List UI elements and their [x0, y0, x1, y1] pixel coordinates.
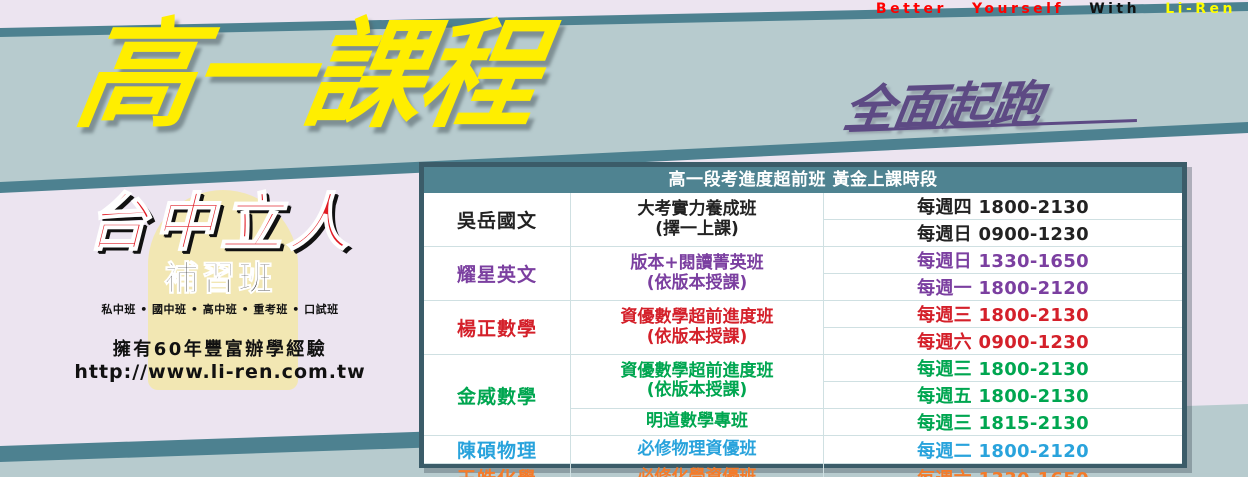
table-row: 王皓化學必修化學資優班每週六 1330-1650 [424, 463, 1182, 477]
table-row: 陳碩物理必修物理資優班每週二 1800-2120 [424, 435, 1182, 463]
time-slot: 每週日 0900-1230 [824, 219, 1182, 246]
time-cell-group: 每週四 1800-2130每週日 0900-1230 [824, 193, 1182, 246]
logo-class-list: 私中班 • 國中班 • 高中班 • 重考班 • 口試班 [30, 301, 410, 317]
teacher-cell: 楊正數學 [424, 301, 571, 354]
time-slot: 每週六 0900-1230 [824, 327, 1182, 354]
teacher-cell: 王皓化學 [424, 464, 571, 477]
schedule-table-header: 高一段考進度超前班 黃金上課時段 [424, 167, 1182, 193]
tagline-word-4: Li-Ren [1165, 1, 1236, 17]
table-row: 楊正數學資優數學超前進度班 (依版本授課)每週三 1800-2130每週六 09… [424, 300, 1182, 354]
teacher-cell: 吳岳國文 [424, 193, 571, 246]
time-cell-group: 每週六 1330-1650 [824, 464, 1182, 477]
time-slot: 每週三 1800-2130 [824, 355, 1182, 381]
teacher-cell: 陳碩物理 [424, 436, 571, 463]
tagline-word-2: Yourself [972, 1, 1064, 17]
table-row: 耀星英文版本+閱讀菁英班 (依版本授課)每週日 1330-1650每週一 180… [424, 246, 1182, 300]
logo-name: 台中立人 [30, 190, 410, 255]
course-cell-group: 資優數學超前進度班 (依版本授課)明道數學專班 [571, 355, 824, 435]
teacher-cell: 耀星英文 [424, 247, 571, 300]
time-slot: 每週四 1800-2130 [824, 193, 1182, 219]
time-cell-group: 每週二 1800-2120 [824, 436, 1182, 463]
tagline: Better Yourself With Li-Ren [876, 1, 1236, 17]
time-slot: 每週六 1330-1650 [824, 464, 1182, 477]
time-slot: 每週三 1815-2130 [824, 408, 1182, 435]
page-title: 高一課程 [68, 14, 544, 138]
time-slot: 每週五 1800-2130 [824, 381, 1182, 408]
course-cell: 資優數學超前進度班 (依版本授課) [571, 355, 823, 408]
table-row: 吳岳國文大考實力養成班 (擇一上課)每週四 1800-2130每週日 0900-… [424, 193, 1182, 246]
time-cell-group: 每週三 1800-2130每週五 1800-2130每週三 1815-2130 [824, 355, 1182, 435]
course-cell: 版本+閱讀菁英班 (依版本授課) [571, 247, 824, 300]
teacher-cell: 金威數學 [424, 355, 571, 435]
course-cell: 必修物理資優班 [571, 436, 824, 463]
logo-website-url[interactable]: http://www.li-ren.com.tw [30, 361, 410, 383]
time-cell-group: 每週三 1800-2130每週六 0900-1230 [824, 301, 1182, 354]
time-cell-group: 每週日 1330-1650每週一 1800-2120 [824, 247, 1182, 300]
schedule-table-body: 吳岳國文大考實力養成班 (擇一上課)每週四 1800-2130每週日 0900-… [424, 193, 1182, 477]
course-cell: 資優數學超前進度班 (依版本授課) [571, 301, 824, 354]
table-row: 金威數學資優數學超前進度班 (依版本授課)明道數學專班每週三 1800-2130… [424, 354, 1182, 435]
logo-experience: 擁有60年豐富辦學經驗 [30, 335, 410, 361]
time-slot: 每週一 1800-2120 [824, 273, 1182, 300]
course-cell: 大考實力養成班 (擇一上課) [571, 193, 824, 246]
time-slot: 每週三 1800-2130 [824, 301, 1182, 327]
brand-logo: 台中立人 補習班 私中班 • 國中班 • 高中班 • 重考班 • 口試班 擁有6… [30, 190, 410, 383]
time-slot: 每週二 1800-2120 [824, 436, 1182, 463]
tagline-word-3: With [1089, 1, 1140, 17]
schedule-table: 高一段考進度超前班 黃金上課時段 吳岳國文大考實力養成班 (擇一上課)每週四 1… [419, 162, 1187, 468]
course-cell: 必修化學資優班 [571, 464, 824, 477]
time-slot: 每週日 1330-1650 [824, 247, 1182, 273]
tagline-word-1: Better [876, 1, 947, 17]
course-cell: 明道數學專班 [571, 408, 823, 435]
